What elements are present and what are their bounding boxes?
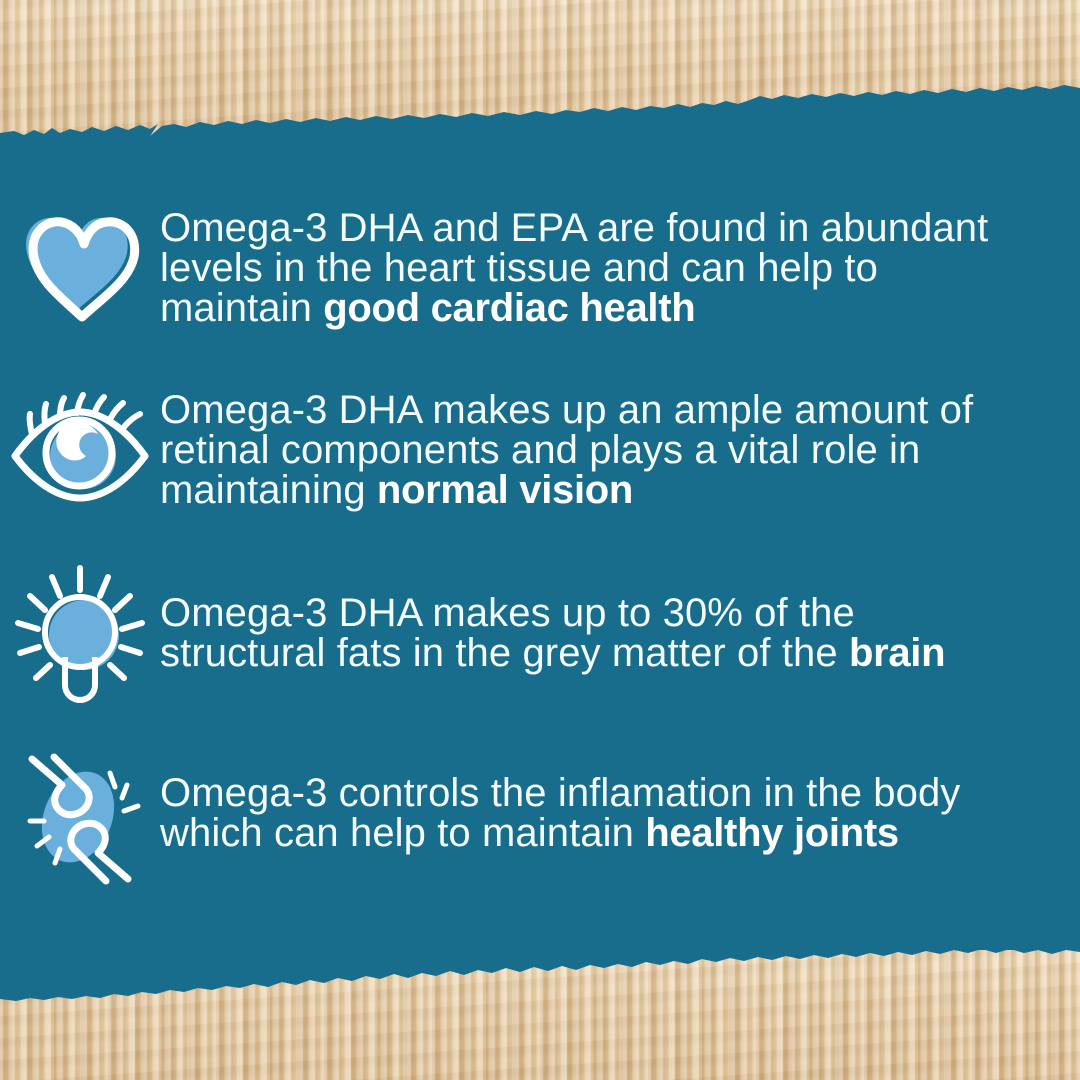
cardboard-texture-bottom — [0, 950, 1080, 1080]
icon-cell-lightbulb — [0, 565, 160, 705]
benefit-highlight: healthy joints — [645, 811, 899, 855]
benefit-text-cardiac: Omega-3 DHA and EPA are found in abundan… — [160, 208, 1010, 328]
benefit-row-joints: Omega-3 controls the inflamation in the … — [0, 745, 1010, 886]
benefit-line: Omega-3 DHA makes up an ample amount of — [160, 388, 973, 432]
eye-icon — [10, 390, 150, 505]
benefit-text-brain: Omega-3 DHA makes up to 30% of the struc… — [160, 565, 1010, 673]
benefit-line-prefix: structural fats in the grey matter of th… — [160, 631, 849, 675]
benefit-text-joints: Omega-3 controls the inflamation in the … — [160, 745, 1010, 853]
top-torn-paper-strip — [0, 0, 1080, 150]
joint-icon — [10, 751, 150, 886]
benefit-row-vision: Omega-3 DHA makes up an ample amount of … — [0, 390, 1010, 510]
lightbulb-icon — [10, 565, 150, 705]
benefit-row-cardiac: Omega-3 DHA and EPA are found in abundan… — [0, 208, 1010, 328]
benefit-row-brain: Omega-3 DHA makes up to 30% of the struc… — [0, 565, 1010, 705]
bottom-torn-paper-strip — [0, 950, 1080, 1080]
icon-cell-joint — [0, 745, 160, 886]
icon-cell-eye — [0, 390, 160, 505]
cardboard-texture-top — [0, 0, 1080, 150]
benefit-highlight: good cardiac health — [323, 286, 695, 330]
infographic-card: Omega-3 DHA and EPA are found in abundan… — [0, 0, 1080, 1080]
heart-icon — [18, 208, 143, 323]
benefit-line: levels in the heart tissue and can help … — [160, 246, 878, 290]
benefit-line-prefix: maintain — [160, 286, 323, 330]
benefit-highlight: brain — [849, 631, 945, 675]
benefit-line: Omega-3 controls the inflamation in the … — [160, 771, 960, 815]
benefit-line: retinal components and plays a vital rol… — [160, 428, 920, 472]
benefit-line: Omega-3 DHA and EPA are found in abundan… — [160, 206, 988, 250]
benefit-line-prefix: maintaining — [160, 468, 377, 512]
benefit-line: Omega-3 DHA makes up to 30% of the — [160, 591, 855, 635]
benefit-highlight: normal vision — [377, 468, 633, 512]
benefit-text-vision: Omega-3 DHA makes up an ample amount of … — [160, 390, 1010, 510]
icon-cell-heart — [0, 208, 160, 323]
benefit-line-prefix: which can help to maintain — [160, 811, 645, 855]
